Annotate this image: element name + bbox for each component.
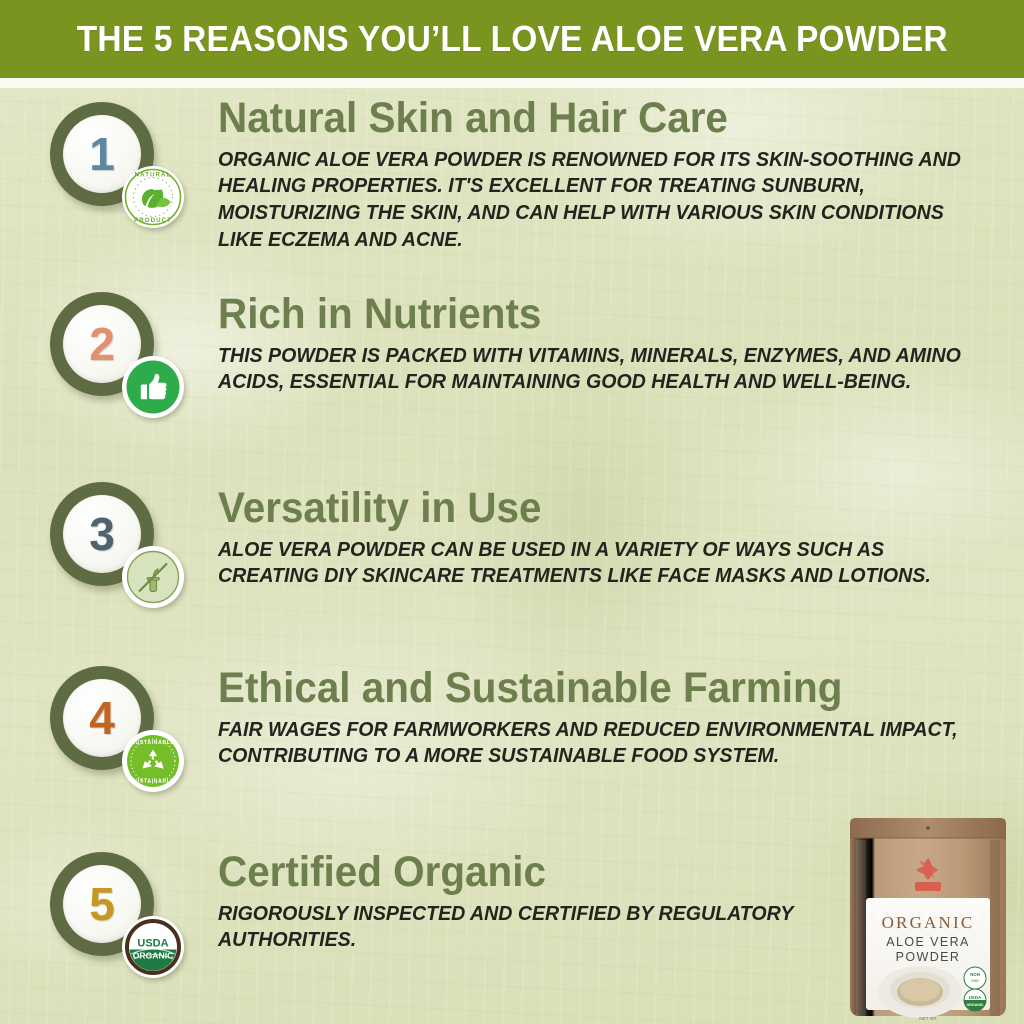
infographic-page: THE 5 REASONS YOU’LL LOVE ALOE VERA POWD… (0, 0, 1024, 1024)
svg-text:PRODUCT: PRODUCT (134, 217, 172, 224)
reason-badge-column-4: 4 SUSTAINABLE SUSTAINABLE (38, 660, 206, 810)
reason-number-2: 2 (89, 321, 115, 367)
reason-text-4: Ethical and Sustainable Farming FAIR WAG… (218, 666, 1018, 770)
svg-text:ALOE VERA: ALOE VERA (886, 935, 969, 949)
reason-title-3: Versatility in Use (218, 486, 970, 531)
reason-text-1: Natural Skin and Hair Care ORGANIC ALOE … (218, 96, 1018, 253)
reason-number-5: 5 (89, 881, 115, 927)
reason-title-4: Ethical and Sustainable Farming (218, 666, 970, 711)
reason-number-3: 3 (89, 511, 115, 557)
reason-title-2: Rich in Nutrients (218, 292, 970, 337)
reason-body-3: ALOE VERA POWDER CAN BE USED IN A VARIET… (218, 537, 982, 590)
usda-organic-seal-icon: USDA ORGANIC (122, 916, 184, 978)
reason-body-1: ORGANIC ALOE VERA POWDER IS RENOWNED FOR… (218, 147, 982, 254)
svg-text:POWDER: POWDER (896, 950, 961, 964)
svg-text:GMO: GMO (971, 979, 979, 983)
svg-text:NON: NON (970, 972, 980, 977)
reason-number-4: 4 (89, 695, 115, 741)
reason-number-1: 1 (89, 131, 115, 177)
svg-text:SUSTAINABLE: SUSTAINABLE (131, 740, 174, 746)
reason-text-3: Versatility in Use ALOE VERA POWDER CAN … (218, 486, 1018, 590)
svg-text:NATURAL: NATURAL (135, 172, 172, 179)
reason-text-2: Rich in Nutrients THIS POWDER IS PACKED … (218, 292, 1018, 396)
thumbs-up-seal-icon (122, 356, 184, 418)
reason-body-2: THIS POWDER IS PACKED WITH VITAMINS, MIN… (218, 343, 982, 396)
header-divider (0, 78, 1024, 88)
reason-body-5: RIGOROUSLY INSPECTED AND CERTIFIED BY RE… (218, 901, 810, 954)
reason-body-4: FAIR WAGES FOR FARMWORKERS AND REDUCED E… (218, 717, 982, 770)
reason-title-5: Certified Organic (218, 850, 801, 895)
svg-text:USDA: USDA (137, 937, 168, 949)
reason-badge-column-2: 2 (38, 286, 206, 436)
svg-text:ORGANIC: ORGANIC (882, 913, 975, 932)
svg-text:ORGANIC: ORGANIC (967, 1003, 984, 1007)
reason-text-5: Certified Organic RIGOROUSLY INSPECTED A… (218, 850, 838, 954)
svg-text:SUSTAINABLE: SUSTAINABLE (131, 778, 174, 784)
page-title: THE 5 REASONS YOU’LL LOVE ALOE VERA POWD… (77, 18, 948, 60)
svg-text:NET WT: NET WT (919, 1016, 937, 1021)
no-gmo-plant-seal-icon (122, 546, 184, 608)
product-pouch-image: ORGANIC ALOE VERA POWDER NON GMO USDA OR… (836, 806, 1020, 1024)
natural-product-leaf-seal-icon: NATURAL PRODUCT (122, 166, 184, 228)
header-banner: THE 5 REASONS YOU’LL LOVE ALOE VERA POWD… (0, 0, 1024, 78)
reason-badge-column-1: 1 NATURAL PRODUCT (38, 96, 206, 246)
sustainable-recycle-seal-icon: SUSTAINABLE SUSTAINABLE (122, 730, 184, 792)
svg-text:ORGANIC: ORGANIC (133, 951, 174, 961)
reason-title-1: Natural Skin and Hair Care (218, 96, 970, 141)
reason-badge-column-3: 3 (38, 476, 206, 626)
reason-badge-column-5: 5 USDA ORGANIC (38, 846, 206, 996)
svg-text:USDA: USDA (969, 995, 982, 1000)
